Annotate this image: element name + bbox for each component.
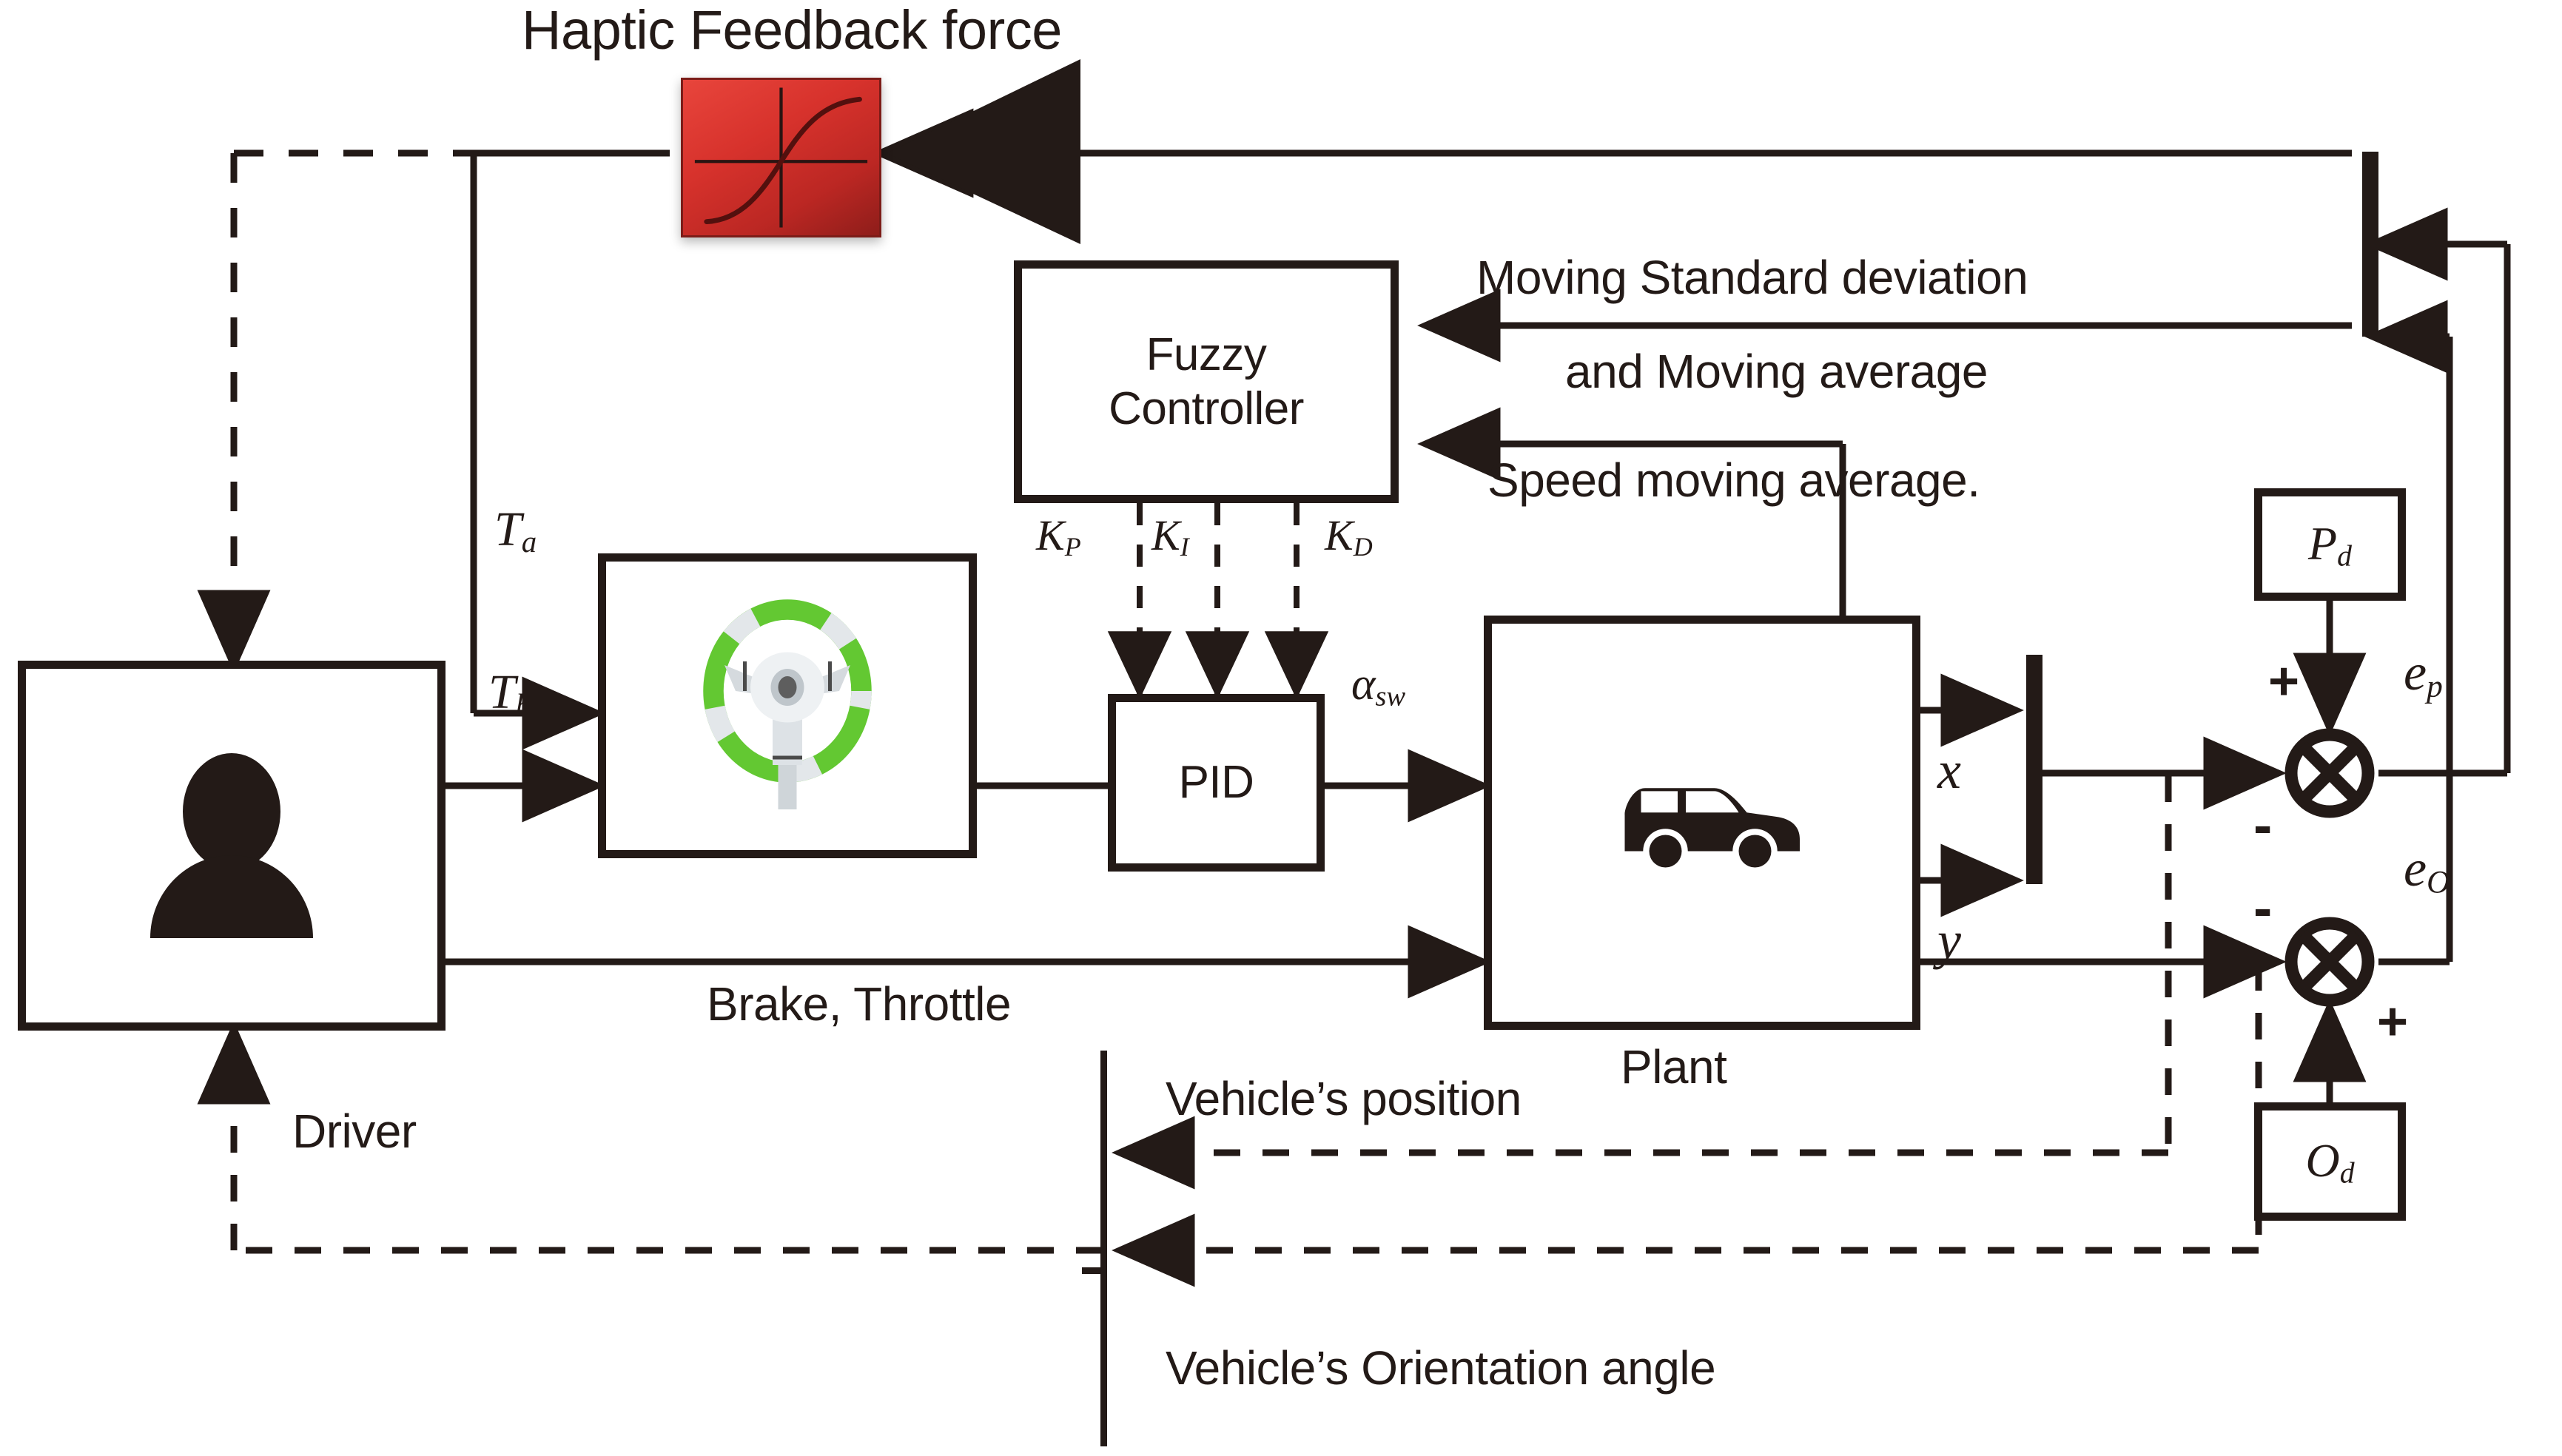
pd-reference-block[interactable]: Pd xyxy=(2254,488,2406,601)
signal-label-kp: KP xyxy=(1036,510,1081,562)
plus-sign-position: + xyxy=(2268,655,2299,708)
signal-label-ki: KI xyxy=(1151,510,1189,562)
sum-junction-position xyxy=(2291,735,2368,812)
pid-label: PID xyxy=(1179,755,1254,809)
sum-junction-orientation xyxy=(2291,923,2368,1000)
od-label: Od xyxy=(2305,1133,2354,1190)
minus-sign-position: - xyxy=(2253,798,2272,854)
label-speed-moving-average: Speed moving average. xyxy=(1487,453,1980,508)
error-collector-bar xyxy=(2362,152,2378,337)
gain-triangle-icon xyxy=(887,59,1080,244)
signal-label-kd: KD xyxy=(1325,510,1373,562)
od-reference-block[interactable]: Od xyxy=(2254,1102,2406,1221)
person-icon xyxy=(147,753,317,938)
label-brake-throttle: Brake, Throttle xyxy=(707,977,1011,1031)
diagram-title: Haptic Feedback force xyxy=(522,0,1062,61)
steering-wheel-icon xyxy=(695,595,880,817)
diagram-canvas: Haptic Feedback force Driver xyxy=(0,0,2562,1456)
xy-collector-bar xyxy=(2026,655,2042,884)
signal-label-ta: Ta xyxy=(494,502,537,559)
signal-label-th: Th xyxy=(488,664,531,722)
haptic-force-curve-icon xyxy=(681,78,881,237)
plant-block-label: Plant xyxy=(1621,1039,1727,1094)
fuzzy-controller-block[interactable]: Fuzzy Controller xyxy=(1014,260,1399,503)
signal-label-x: x xyxy=(1937,740,1961,801)
fuzzy-label-line2: Controller xyxy=(1109,382,1304,436)
signal-label-alpha-sw: αsw xyxy=(1351,658,1405,712)
pd-label: Pd xyxy=(2308,516,2352,573)
plant-block[interactable] xyxy=(1484,616,1920,1030)
label-vehicle-position: Vehicle’s position xyxy=(1166,1071,1522,1126)
car-icon xyxy=(1580,752,1824,893)
signal-label-eo: eO xyxy=(2404,840,2450,901)
label-moving-std-line2: and Moving average xyxy=(1565,344,1988,399)
signal-label-y: y xyxy=(1937,910,1961,971)
label-vehicle-orientation: Vehicle’s Orientation angle xyxy=(1166,1341,1715,1395)
driver-block-label: Driver xyxy=(292,1104,417,1159)
plus-sign-orientation: + xyxy=(2377,995,2408,1048)
steering-wheel-block[interactable] xyxy=(598,553,977,858)
feedback-tick-bar xyxy=(1082,1051,1107,1446)
minus-sign-orientation: - xyxy=(2253,880,2272,937)
driver-block[interactable] xyxy=(18,661,446,1031)
fuzzy-label-line1: Fuzzy xyxy=(1146,328,1267,382)
label-moving-std-line1: Moving Standard deviation xyxy=(1476,250,2028,305)
pid-block[interactable]: PID xyxy=(1108,694,1325,872)
signal-label-ep: ep xyxy=(2404,644,2443,705)
